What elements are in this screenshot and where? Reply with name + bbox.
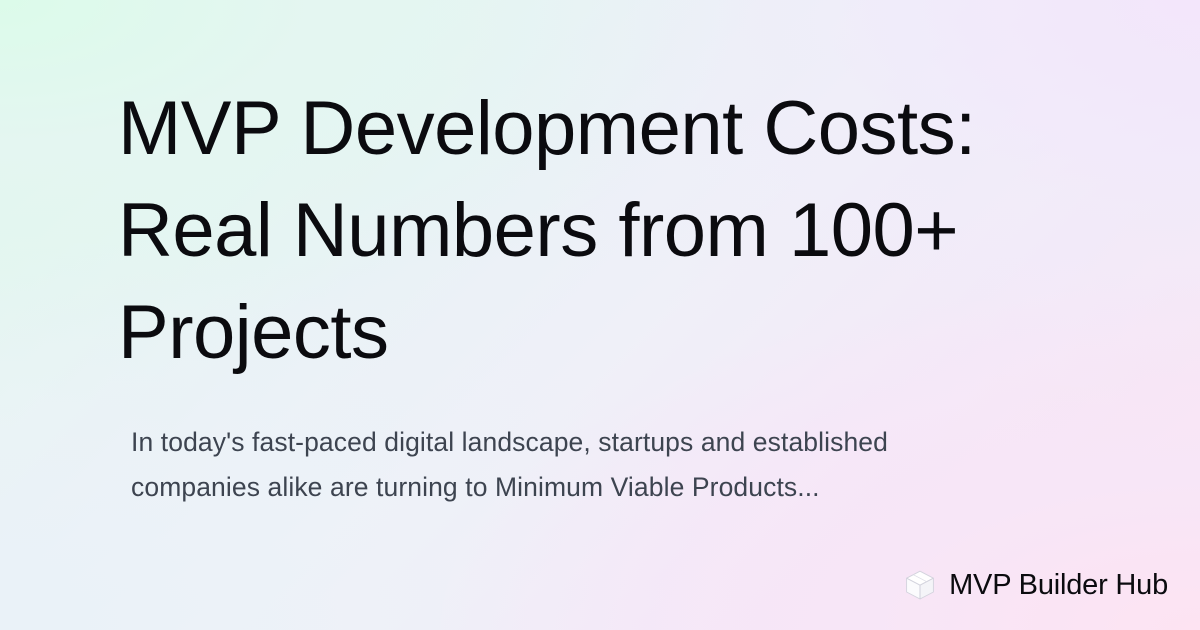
og-share-card: MVP Development Costs: Real Numbers from… bbox=[0, 0, 1200, 630]
page-subtitle: In today's fast-paced digital landscape,… bbox=[131, 420, 1011, 510]
brand-name: MVP Builder Hub bbox=[949, 568, 1168, 602]
cube-box-icon bbox=[903, 568, 937, 602]
brand-lockup: MVP Builder Hub bbox=[903, 568, 1168, 602]
page-title: MVP Development Costs: Real Numbers from… bbox=[118, 78, 1078, 384]
card-content: MVP Development Costs: Real Numbers from… bbox=[0, 0, 1200, 630]
